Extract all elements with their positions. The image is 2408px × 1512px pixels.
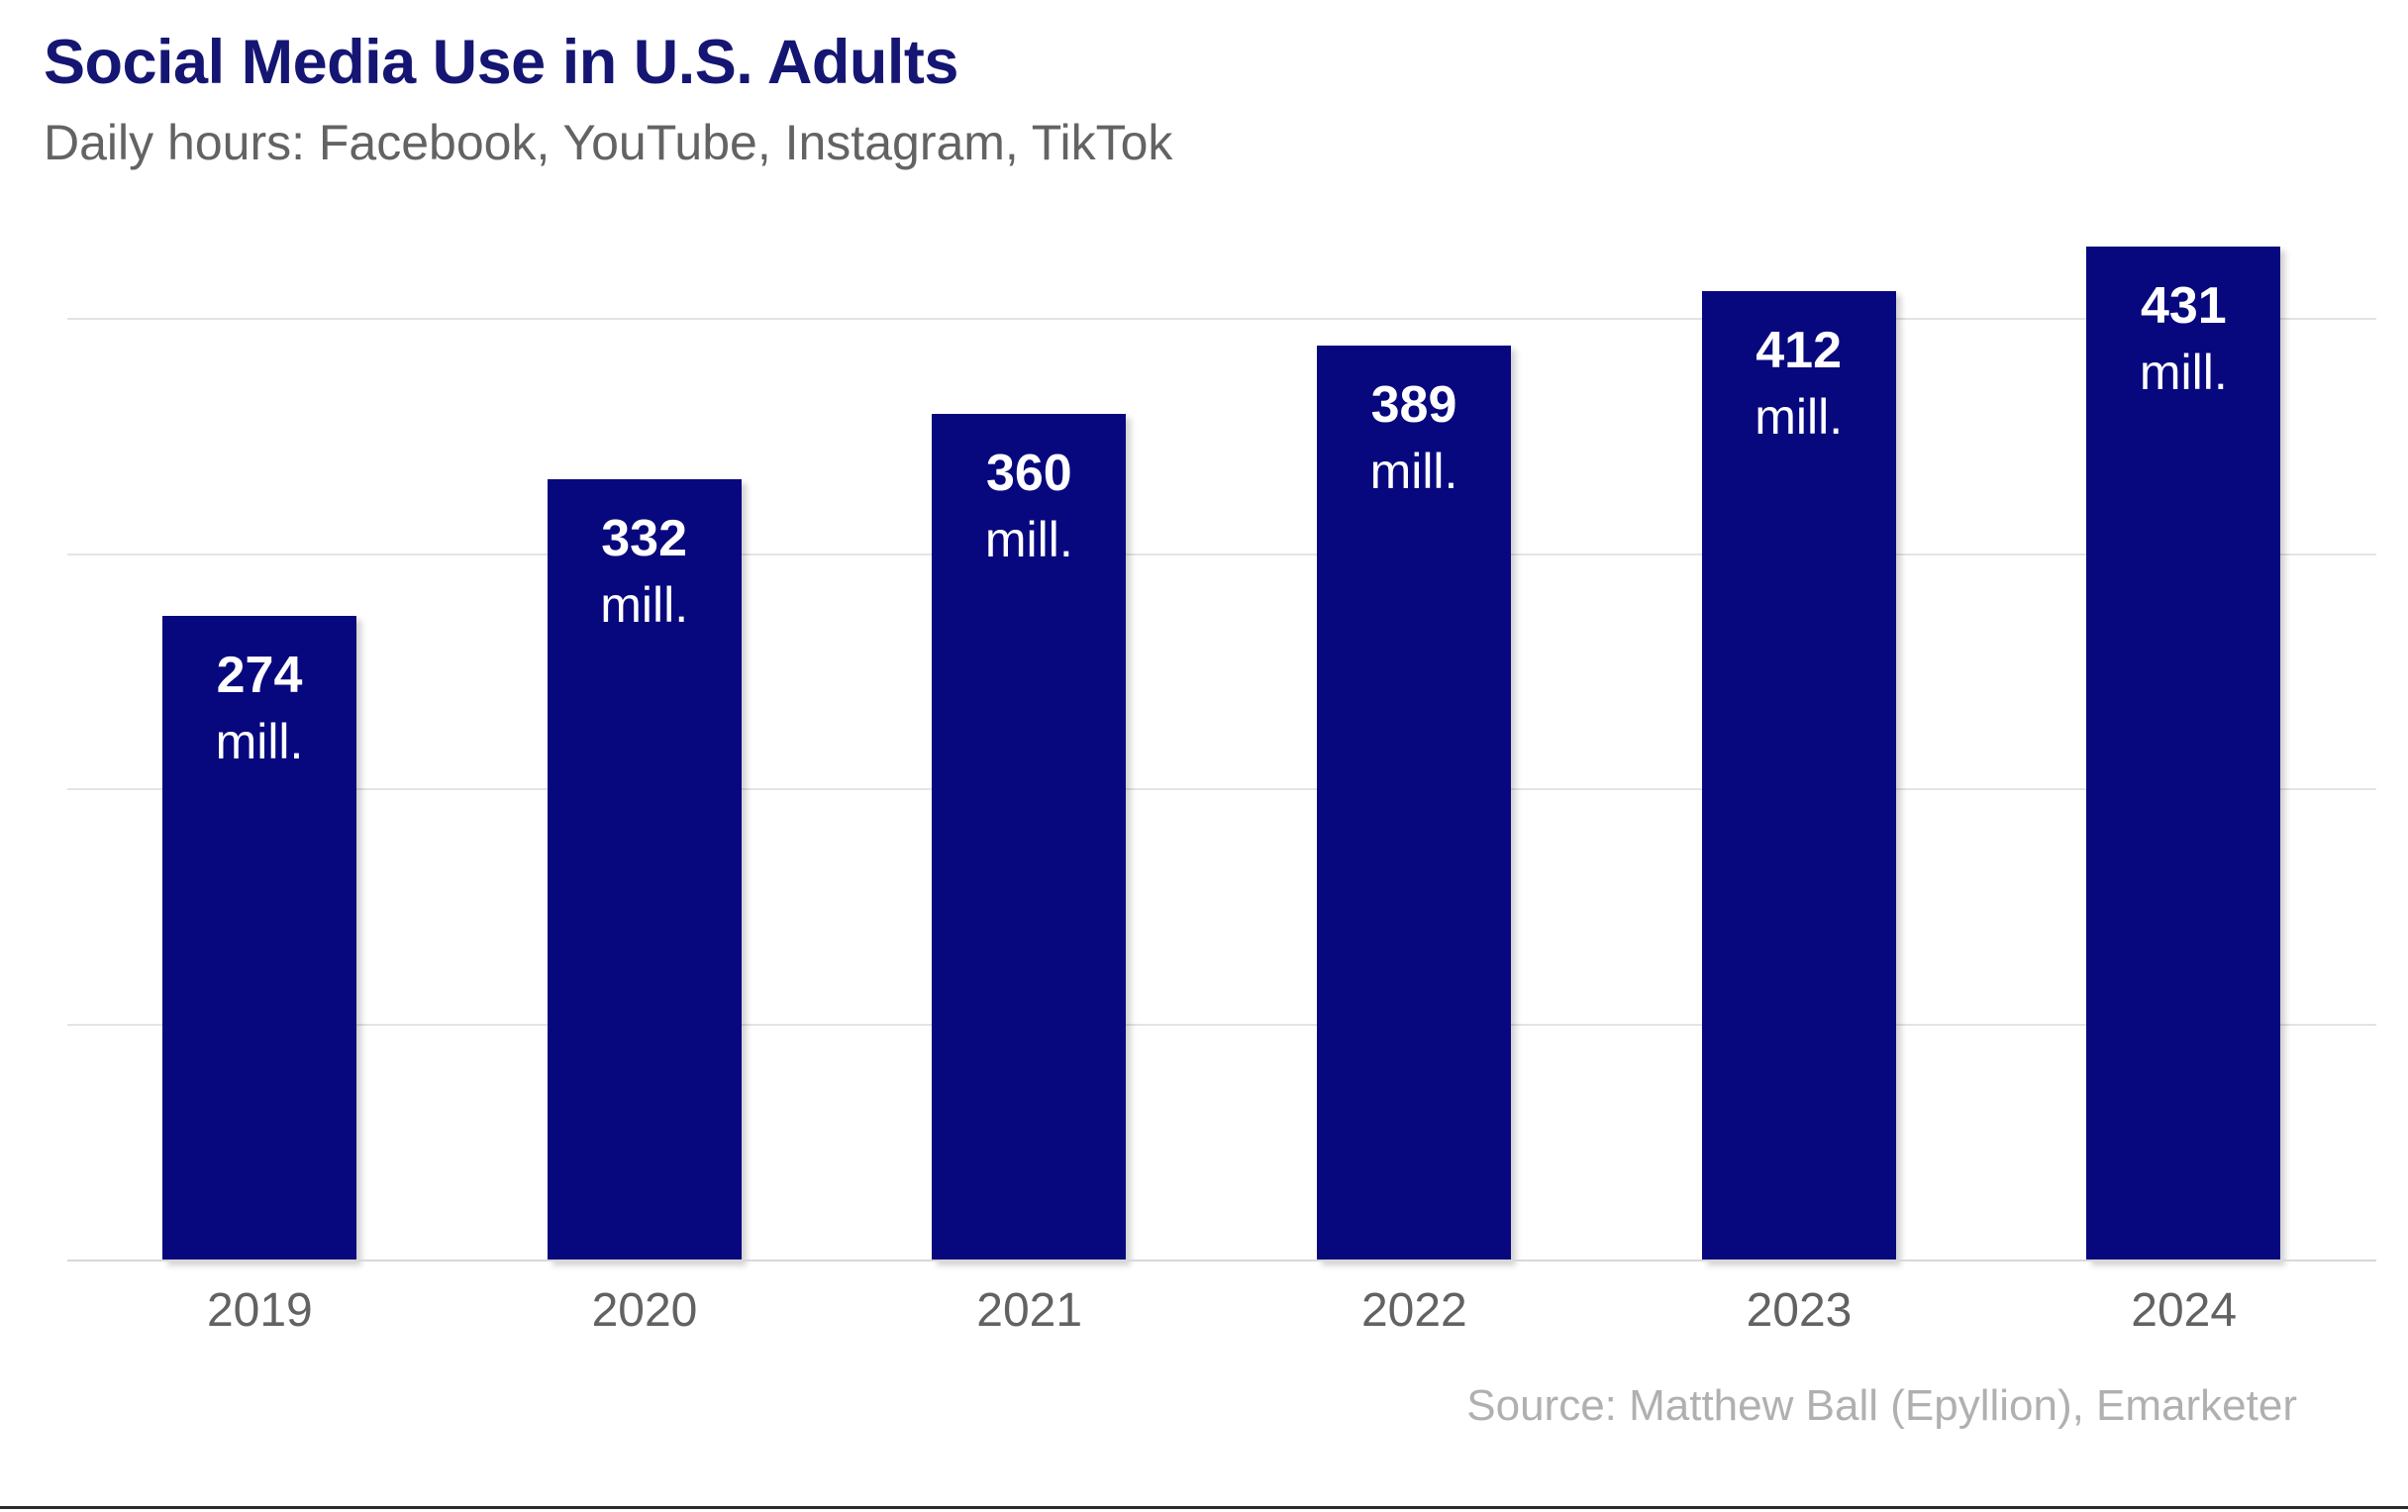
x-axis-label: 2024 xyxy=(1991,1283,2376,1338)
bar-unit: mill. xyxy=(548,580,742,630)
x-axis-label: 2021 xyxy=(837,1283,1222,1338)
bar[interactable]: 412mill. xyxy=(1702,291,1896,1261)
bar[interactable]: 332mill. xyxy=(548,479,742,1261)
bar-data-label: 274mill. xyxy=(162,650,356,766)
bar-value: 412 xyxy=(1702,325,1896,376)
x-axis-line xyxy=(67,1260,2376,1261)
bar-data-label: 360mill. xyxy=(932,448,1126,564)
bar-value: 332 xyxy=(548,513,742,564)
x-axis-labels: 201920202021202220232024 xyxy=(67,1283,2376,1362)
bar-value: 431 xyxy=(2086,280,2280,332)
bar[interactable]: 389mill. xyxy=(1317,346,1511,1261)
bar-unit: mill. xyxy=(1702,392,1896,442)
bar-value: 389 xyxy=(1317,379,1511,431)
bar-data-label: 389mill. xyxy=(1317,379,1511,496)
bar-data-label: 332mill. xyxy=(548,513,742,630)
plot-area: 274mill.332mill.360mill.389mill.412mill.… xyxy=(67,178,2376,1261)
bar-data-label: 431mill. xyxy=(2086,280,2280,397)
bar-data-label: 412mill. xyxy=(1702,325,1896,442)
bar[interactable]: 431mill. xyxy=(2086,247,2280,1261)
page-title: Social Media Use in U.S. Adults xyxy=(44,26,2222,99)
bar-slot: 274mill. xyxy=(67,178,452,1261)
title-block: Social Media Use in U.S. Adults Daily ho… xyxy=(44,26,2222,172)
bar-unit: mill. xyxy=(2086,348,2280,397)
bottom-divider xyxy=(0,1506,2408,1509)
bar-series: 274mill.332mill.360mill.389mill.412mill.… xyxy=(67,178,2376,1261)
chart-container: Social Media Use in U.S. Adults Daily ho… xyxy=(0,0,2408,1512)
source-note: Source: Matthew Ball (Epyllion), Emarket… xyxy=(1466,1381,2297,1431)
bar-unit: mill. xyxy=(162,717,356,766)
chart-subtitle: Daily hours: Facebook, YouTube, Instagra… xyxy=(44,113,2222,172)
bar-value: 360 xyxy=(932,448,1126,499)
bar[interactable]: 274mill. xyxy=(162,616,356,1261)
x-axis-label: 2020 xyxy=(452,1283,838,1338)
bar-slot: 332mill. xyxy=(452,178,838,1261)
bar-slot: 412mill. xyxy=(1607,178,1992,1261)
bar-slot: 389mill. xyxy=(1222,178,1607,1261)
bar-slot: 360mill. xyxy=(837,178,1222,1261)
bar-unit: mill. xyxy=(1317,447,1511,496)
x-axis-label: 2019 xyxy=(67,1283,452,1338)
bar-unit: mill. xyxy=(932,515,1126,564)
bar-slot: 431mill. xyxy=(1991,178,2376,1261)
x-axis-label: 2022 xyxy=(1222,1283,1607,1338)
x-axis-label: 2023 xyxy=(1607,1283,1992,1338)
bar[interactable]: 360mill. xyxy=(932,414,1126,1261)
bar-value: 274 xyxy=(162,650,356,701)
